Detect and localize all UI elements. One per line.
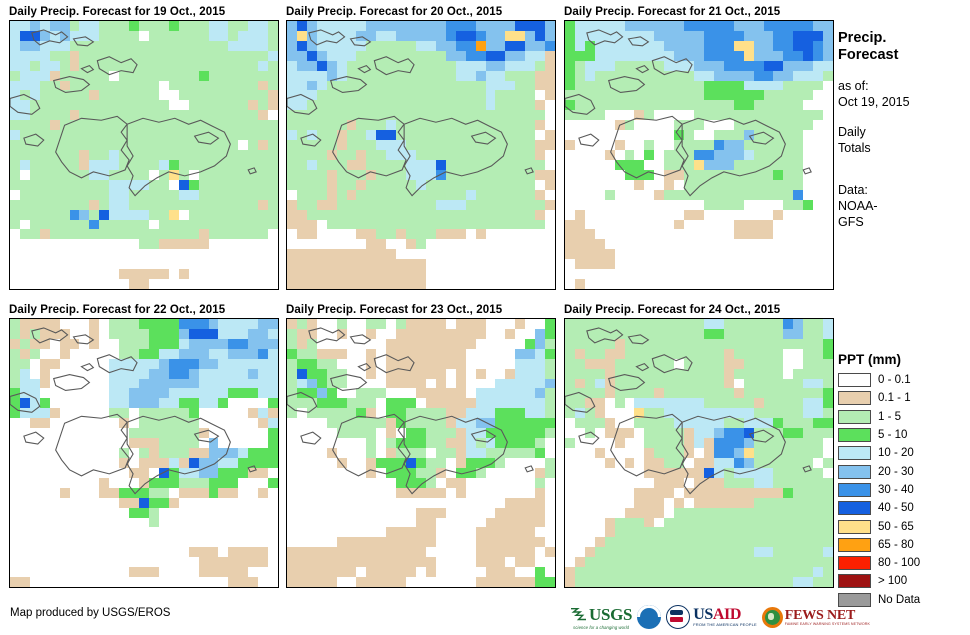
data-source-line1: NOAA- [838, 198, 970, 214]
usgs-mark-icon [570, 607, 587, 622]
legend-swatch [838, 446, 871, 460]
usgs-tagline: science for a changing world [573, 625, 629, 630]
legend-item: 1 - 5 [838, 408, 970, 426]
noaa-logo [637, 604, 661, 630]
precip-map[interactable] [9, 318, 279, 588]
legend-label: 1 - 5 [878, 411, 901, 423]
panel-title: Daily Precip. Forecast for 22 Oct., 2015 [9, 302, 279, 318]
legend-label: 65 - 80 [878, 539, 914, 551]
map-heading-line1: Precip. [838, 30, 970, 47]
map-credit: Map produced by USGS/EROS [10, 607, 170, 619]
panel-title: Daily Precip. Forecast for 24 Oct., 2015 [564, 302, 834, 318]
usaid-wordmark-part1: US [693, 606, 713, 623]
fews-net-logo: FEWS NET FAMINE EARLY WARNING SYSTEMS NE… [762, 604, 870, 630]
noaa-seal-icon [637, 605, 661, 629]
legend-swatch [838, 574, 871, 588]
forecast-panel-24-oct: Daily Precip. Forecast for 24 Oct., 2015 [564, 302, 834, 588]
legend-title: PPT (mm) [838, 352, 970, 367]
legend-label: 0 - 0.1 [878, 374, 911, 386]
usaid-logo: USAID FROM THE AMERICAN PEOPLE [666, 604, 757, 630]
forecast-panel-22-oct: Daily Precip. Forecast for 22 Oct., 2015 [9, 302, 279, 588]
precip-map[interactable] [286, 318, 556, 588]
fews-wordmark: FEWS NET [785, 609, 870, 622]
legend-swatch [838, 520, 871, 534]
forecast-panel-19-oct: Daily Precip. Forecast for 19 Oct., 2015 [9, 4, 279, 290]
legend-swatch [838, 556, 871, 570]
precip-grid [565, 319, 833, 587]
data-source-label: Data: [838, 182, 970, 198]
legend-swatch [838, 501, 871, 515]
legend-swatch [838, 410, 871, 424]
legend-label: 40 - 50 [878, 502, 914, 514]
precip-map[interactable] [9, 20, 279, 290]
precip-grid [10, 319, 278, 587]
legend: PPT (mm) 0 - 0.10.1 - 11 - 55 - 1010 - 2… [838, 352, 970, 609]
forecast-panel-23-oct: Daily Precip. Forecast for 23 Oct., 2015 [286, 302, 556, 588]
legend-swatch [838, 465, 871, 479]
title-block: Precip. Forecast as of: Oct 19, 2015 Dai… [838, 30, 970, 230]
precip-grid [287, 319, 555, 587]
map-heading-line2: Forecast [838, 47, 970, 64]
precip-grid [10, 21, 278, 289]
usaid-wordmark-part2: AID [713, 606, 741, 623]
legend-label: 10 - 20 [878, 447, 914, 459]
legend-label: No Data [878, 594, 920, 606]
legend-label: 50 - 65 [878, 521, 914, 533]
precip-grid [287, 21, 555, 289]
legend-label: 0.1 - 1 [878, 392, 911, 404]
totals-line1: Daily [838, 124, 970, 140]
legend-item: 50 - 65 [838, 517, 970, 535]
legend-swatch [838, 428, 871, 442]
forecast-panel-21-oct: Daily Precip. Forecast for 21 Oct., 2015 [564, 4, 834, 290]
legend-label: 20 - 30 [878, 466, 914, 478]
asof-label: as of: [838, 78, 970, 94]
legend-item: 65 - 80 [838, 536, 970, 554]
legend-label: > 100 [878, 575, 907, 587]
legend-label: 5 - 10 [878, 429, 907, 441]
precip-map[interactable] [564, 20, 834, 290]
usgs-wordmark: USGS [589, 605, 632, 625]
legend-item: 80 - 100 [838, 554, 970, 572]
legend-swatch [838, 391, 871, 405]
data-source-line2: GFS [838, 214, 970, 230]
legend-label: 30 - 40 [878, 484, 914, 496]
legend-item: 20 - 30 [838, 462, 970, 480]
legend-rows: 0 - 0.10.1 - 11 - 55 - 1010 - 2020 - 303… [838, 371, 970, 609]
legend-item: 0 - 0.1 [838, 371, 970, 389]
usaid-seal-icon [666, 605, 690, 629]
precip-map[interactable] [286, 20, 556, 290]
panel-title: Daily Precip. Forecast for 23 Oct., 2015 [286, 302, 556, 318]
precip-grid [565, 21, 833, 289]
panel-title: Daily Precip. Forecast for 20 Oct., 2015 [286, 4, 556, 20]
fews-globe-icon [762, 607, 783, 628]
legend-label: 80 - 100 [878, 557, 920, 569]
legend-item: 30 - 40 [838, 481, 970, 499]
legend-item: 0.1 - 1 [838, 389, 970, 407]
totals-line2: Totals [838, 140, 970, 156]
usgs-logo: USGS science for a changing world [570, 604, 632, 630]
legend-item: 10 - 20 [838, 444, 970, 462]
fews-tagline: FAMINE EARLY WARNING SYSTEMS NETWORK [785, 622, 870, 626]
legend-item: 5 - 10 [838, 426, 970, 444]
precip-map[interactable] [564, 318, 834, 588]
legend-swatch [838, 538, 871, 552]
panel-title: Daily Precip. Forecast for 21 Oct., 2015 [564, 4, 834, 20]
legend-swatch [838, 483, 871, 497]
legend-item: 40 - 50 [838, 499, 970, 517]
asof-date: Oct 19, 2015 [838, 94, 970, 110]
panel-title: Daily Precip. Forecast for 19 Oct., 2015 [9, 4, 279, 20]
legend-item: > 100 [838, 572, 970, 590]
usaid-tagline: FROM THE AMERICAN PEOPLE [693, 622, 757, 627]
logo-strip: USGS science for a changing world USAID … [570, 602, 870, 632]
forecast-panel-20-oct: Daily Precip. Forecast for 20 Oct., 2015 [286, 4, 556, 290]
legend-swatch [838, 373, 871, 387]
